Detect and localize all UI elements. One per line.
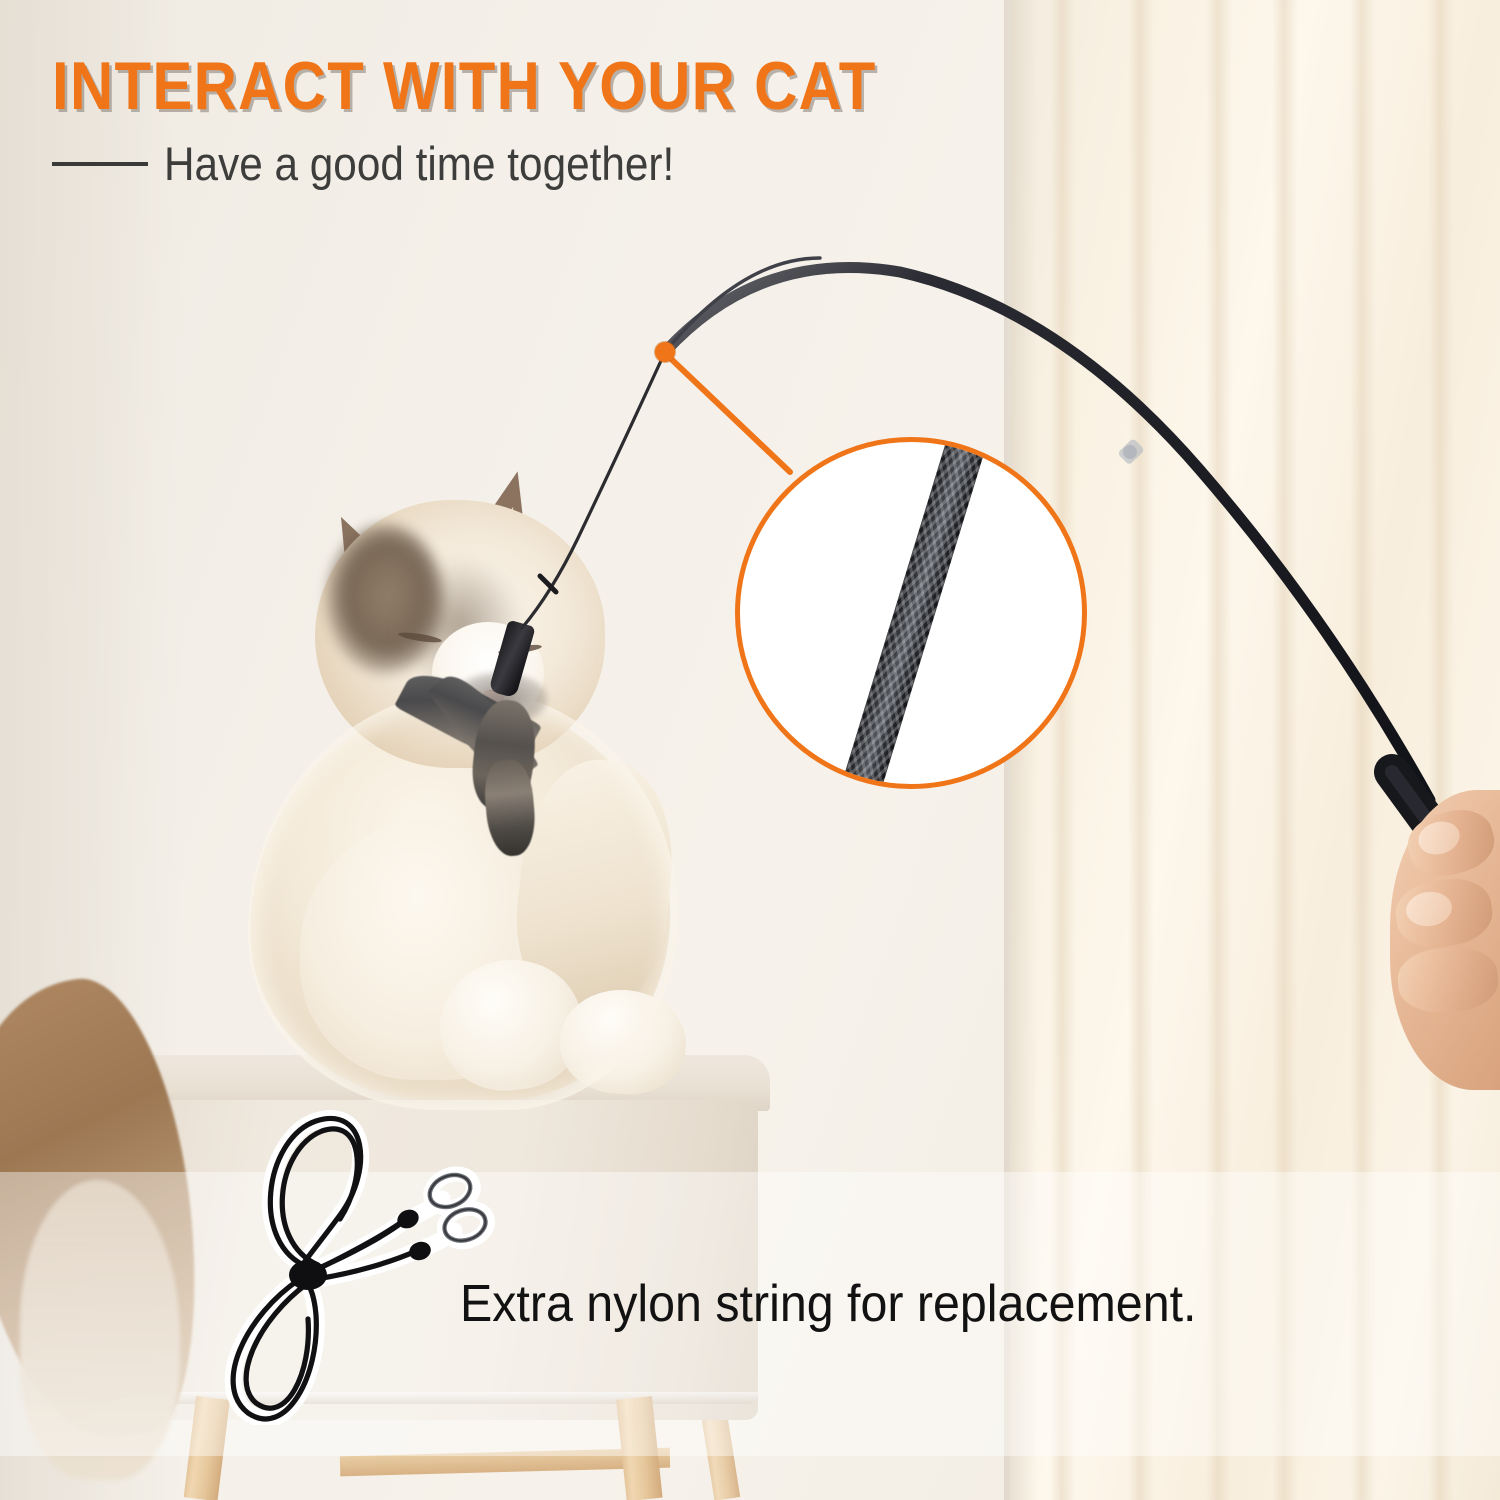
- braided-nylon-cord-closeup: [830, 437, 994, 789]
- string-knot: [289, 1260, 327, 1290]
- footer-caption: Extra nylon string for replacement.: [460, 1278, 1196, 1330]
- spare-string-sticker: [190, 1095, 510, 1425]
- subtitle-row: Have a good time together!: [52, 138, 731, 190]
- product-marketing-image: INTERACT WITH YOUR CAT Have a good time …: [0, 0, 1500, 1500]
- page-subtitle: Have a good time together!: [164, 138, 674, 190]
- page-headline: INTERACT WITH YOUR CAT: [52, 52, 877, 120]
- magnifier-circle: [735, 437, 1087, 789]
- callout-marker-dot: [655, 342, 675, 362]
- subtitle-dash: [52, 162, 148, 166]
- cat-fur-halo: [248, 690, 678, 1110]
